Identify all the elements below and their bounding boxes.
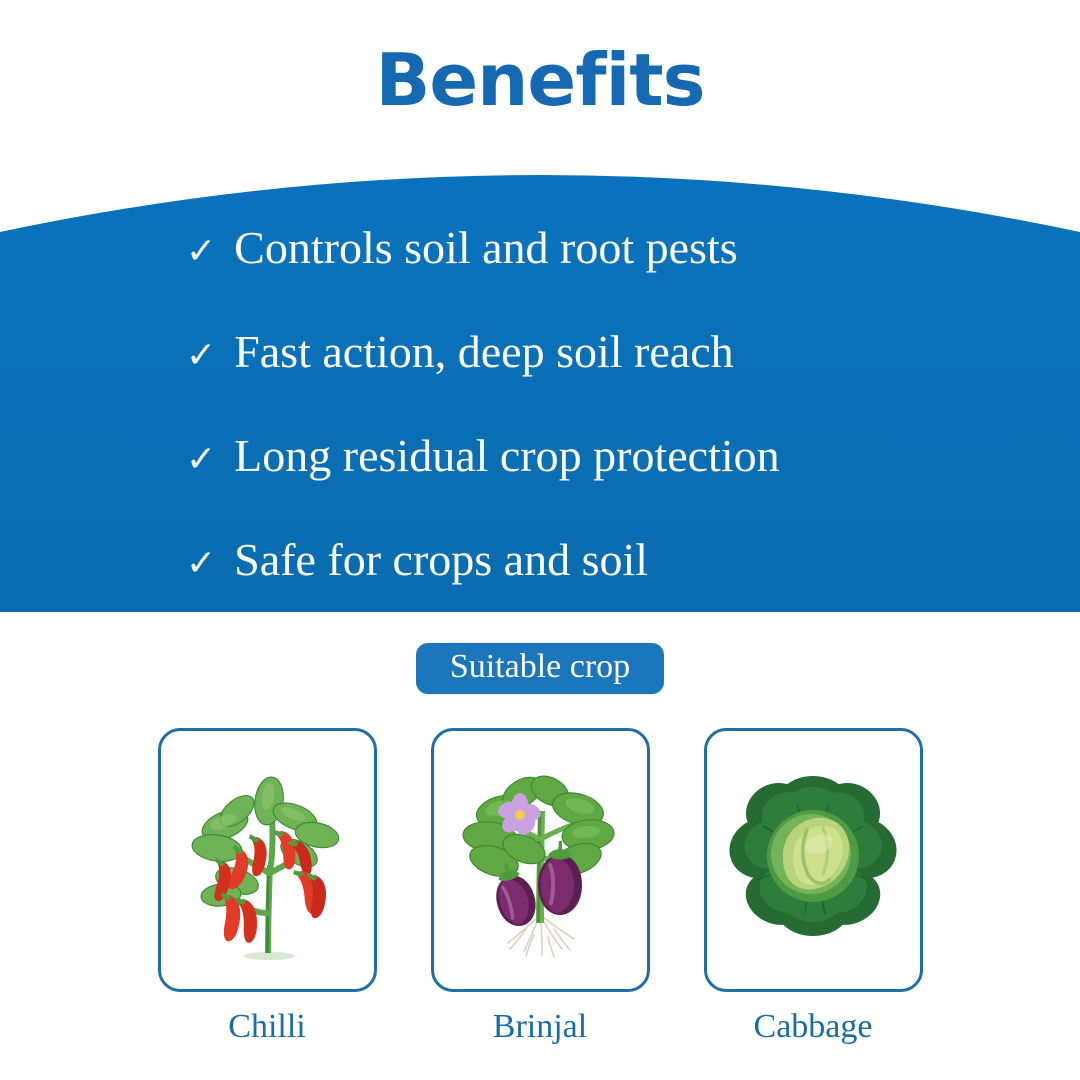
page-title-container: Benefits [0, 0, 1080, 160]
brinjal-plant-illustration [450, 753, 630, 968]
benefit-label: Controls soil and root pests [234, 196, 737, 300]
suitable-crop-badge-row: Suitable crop [0, 643, 1080, 694]
crop-card-brinjal[interactable] [431, 728, 650, 992]
benefit-item: ✓ Controls soil and root pests [0, 196, 1080, 300]
chilli-plant-illustration [177, 753, 357, 968]
check-icon: ✓ [186, 304, 216, 408]
suitable-crop-badge: Suitable crop [416, 643, 664, 694]
benefit-label: Fast action, deep soil reach [234, 300, 733, 404]
crop-label-chilli: Chilli [228, 1008, 305, 1045]
page-title: Benefits [375, 44, 704, 116]
suitable-crop-cards: Chilli [0, 728, 1080, 1045]
check-icon: ✓ [186, 408, 216, 512]
benefit-item: ✓ Long residual crop protection [0, 404, 1080, 508]
crop-card-cabbage[interactable] [704, 728, 923, 992]
crop-label-brinjal: Brinjal [493, 1008, 587, 1045]
benefit-item: ✓ Fast action, deep soil reach [0, 300, 1080, 404]
crop-cell-cabbage: Cabbage [703, 728, 924, 1045]
benefit-item: ✓ Safe for crops and soil [0, 508, 1080, 612]
crop-cell-brinjal: Brinjal [430, 728, 651, 1045]
check-icon: ✓ [186, 512, 216, 616]
check-icon: ✓ [186, 200, 216, 304]
benefit-label: Long residual crop protection [234, 404, 779, 508]
benefits-list: ✓ Controls soil and root pests ✓ Fast ac… [0, 196, 1080, 612]
crop-label-cabbage: Cabbage [754, 1008, 873, 1045]
benefit-label: Safe for crops and soil [234, 508, 648, 612]
crop-cell-chilli: Chilli [157, 728, 378, 1045]
crop-card-chilli[interactable] [158, 728, 377, 992]
cabbage-illustration [723, 770, 903, 950]
